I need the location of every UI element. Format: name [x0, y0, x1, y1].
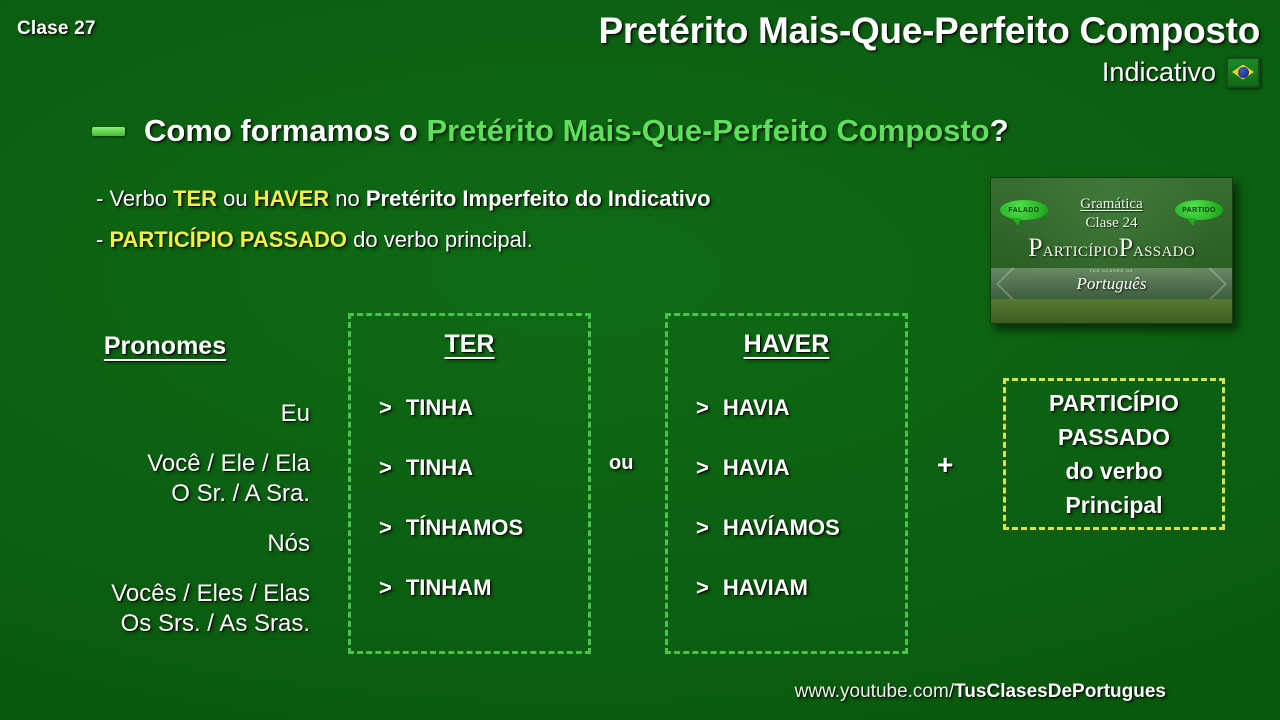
connector-ou: ou [609, 452, 633, 475]
bullet-2-part-1: - [96, 227, 109, 252]
footer-url-brand: TusClasesDePortugues [954, 681, 1166, 702]
verb-haver-form-4-text: HAVIAM [723, 575, 808, 600]
pronomes-heading: Pronomes [20, 332, 310, 361]
verb-haver-heading: HAVER [668, 330, 905, 359]
bullet-1-part-3: no [329, 186, 366, 211]
question-prefix: Como formamos o [144, 113, 426, 148]
class-number-label: Clase 27 [17, 18, 96, 40]
verb-ter-form-1-text: TINHA [406, 395, 473, 420]
verb-haver-form-1-text: HAVIA [723, 395, 790, 420]
arrow-icon: > [696, 575, 709, 600]
thumbnail-gramatica-text: Gramática [1080, 196, 1142, 212]
verb-ter-form-2: >TINHA [351, 454, 588, 482]
verb-ter-form-4-text: TINHAM [406, 575, 492, 600]
bullet-1-keyword-ter: TER [173, 186, 217, 211]
footer-url-plain: www.youtube.com/ [795, 681, 954, 702]
question-highlight: Pretérito Mais-Que-Perfeito Composto [426, 113, 989, 148]
verb-ter-form-4: >TINHAM [351, 574, 588, 602]
verb-haver-form-4: >HAVIAM [668, 574, 905, 602]
arrow-icon: > [696, 395, 709, 420]
participio-line-2: PASSADO [1058, 421, 1170, 454]
thumbnail-portugues: Português [991, 274, 1232, 294]
bullet-1-part-1: - Verbo [96, 186, 173, 211]
arrow-icon: > [696, 515, 709, 540]
lesson-thumbnail-card[interactable]: FALADO PARTIDO Gramática Clase 24 PARTIC… [990, 177, 1233, 324]
slide-content: Clase 27 Pretérito Mais-Que-Perfeito Com… [0, 0, 1280, 720]
thumbnail-p-cap-1: P [1028, 233, 1042, 262]
page-subtitle: Indicativo [1102, 56, 1216, 88]
bullet-item-2: - PARTICÍPIO PASSADO do verbo principal. [96, 219, 711, 260]
participio-passado-box: PARTICÍPIO PASSADO do verbo Principal [1003, 378, 1225, 530]
pronome-item-senhor: O Sr. / A Sra. [20, 479, 310, 509]
title-block: Pretérito Mais-Que-Perfeito Composto Ind… [599, 8, 1260, 88]
bullet-1-part-2: ou [217, 186, 254, 211]
bullet-1-keyword-haver: HAVER [254, 186, 329, 211]
participio-line-1: PARTICÍPIO [1049, 387, 1179, 420]
arrow-icon: > [379, 575, 392, 600]
verb-ter-form-2-text: TINHA [406, 455, 473, 480]
arrow-icon: > [379, 395, 392, 420]
flag-globe [1238, 67, 1249, 78]
pronome-item-senhores: Os Srs. / As Sras. [20, 609, 310, 639]
arrow-icon: > [379, 455, 392, 480]
verb-haver-form-1: >HAVIA [668, 394, 905, 422]
pronome-item-nos: Nós [20, 529, 310, 559]
arrow-icon: > [379, 515, 392, 540]
thumbnail-p-cap-2: P [1119, 233, 1133, 262]
thumbnail-participio-rest: ARTICÍPIO [1043, 244, 1119, 260]
bullet-1-bold-tense: Pretérito Imperfeito do Indicativo [366, 186, 711, 211]
verb-ter-heading: TER [351, 330, 588, 359]
verb-ter-form-1: >TINHA [351, 394, 588, 422]
verb-haver-form-3-text: HAVÍAMOS [723, 515, 840, 540]
thumbnail-micro-caption: TUS CLASES DE [991, 268, 1232, 273]
verb-box-ter: TER >TINHA >TINHA >TÍNHAMOS >TINHAM [348, 313, 591, 654]
pronome-item-eu: Eu [20, 399, 310, 429]
thumbnail-footer-band [991, 299, 1232, 323]
question-row: Como formamos o Pretérito Mais-Que-Perfe… [92, 112, 1009, 150]
bullet-item-1: - Verbo TER ou HAVER no Pretérito Imperf… [96, 178, 711, 219]
thumbnail-participio-passado: PARTICÍPIOPASSADO [991, 233, 1232, 263]
verb-ter-form-3: >TÍNHAMOS [351, 514, 588, 542]
participio-line-4: Principal [1065, 489, 1162, 522]
verb-haver-form-2-text: HAVIA [723, 455, 790, 480]
question-suffix: ? [990, 113, 1009, 148]
footer-url[interactable]: www.youtube.com/TusClasesDePortugues [795, 681, 1166, 703]
connector-plus: + [937, 449, 953, 481]
brazil-flag-icon [1226, 57, 1260, 88]
question-text: Como formamos o Pretérito Mais-Que-Perfe… [144, 112, 1009, 150]
pronomes-column: Pronomes Eu Você / Ele / Ela O Sr. / A S… [20, 332, 310, 659]
page-title: Pretérito Mais-Que-Perfeito Composto [599, 8, 1260, 54]
verb-ter-form-3-text: TÍNHAMOS [406, 515, 523, 540]
verb-box-haver: HAVER >HAVIA >HAVIA >HAVÍAMOS >HAVIAM [665, 313, 908, 654]
thumbnail-passado-rest: ASSADO [1133, 244, 1195, 260]
pronome-item-voces: Vocês / Eles / Elas [20, 579, 310, 609]
dash-bullet-icon [92, 127, 125, 136]
arrow-icon: > [696, 455, 709, 480]
participio-line-3: do verbo [1065, 455, 1162, 488]
bullet-list: - Verbo TER ou HAVER no Pretérito Imperf… [96, 178, 711, 260]
thumbnail-clase: Clase 24 [991, 215, 1232, 232]
pronome-item-voce: Você / Ele / Ela [20, 449, 310, 479]
subtitle-row: Indicativo [599, 56, 1260, 88]
bullet-2-keyword-participio: PARTICÍPIO PASSADO [109, 227, 347, 252]
bullet-2-part-2: do verbo principal. [347, 227, 533, 252]
verb-haver-form-3: >HAVÍAMOS [668, 514, 905, 542]
thumbnail-gramatica: Gramática [991, 196, 1232, 213]
verb-haver-form-2: >HAVIA [668, 454, 905, 482]
